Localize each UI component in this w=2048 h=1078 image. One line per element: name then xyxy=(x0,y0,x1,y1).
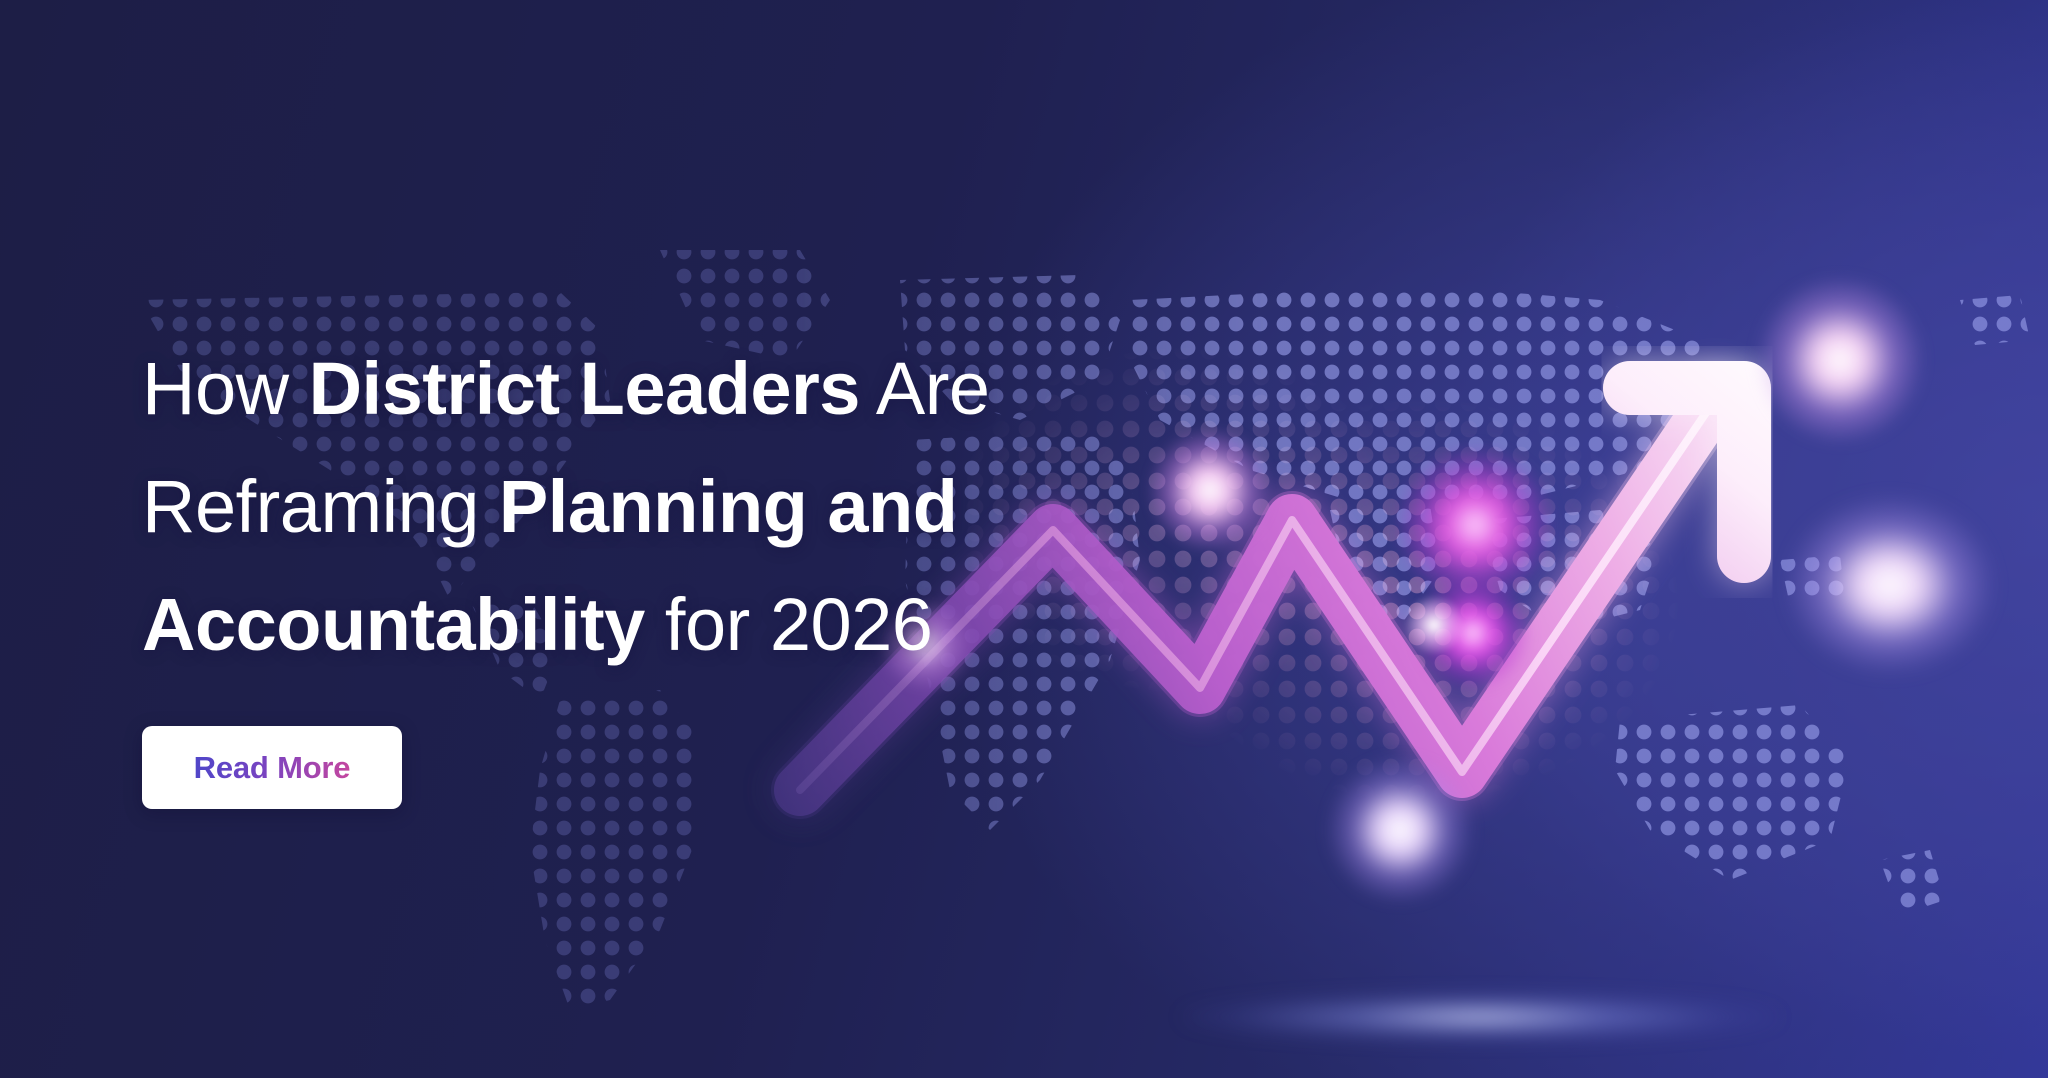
hero-content: How District Leaders Are Reframing Plann… xyxy=(142,330,1142,809)
read-more-button[interactable]: Read More xyxy=(142,726,402,809)
headline-line-2-pre: Reframing xyxy=(142,465,499,548)
headline-line-3-post: for 2026 xyxy=(645,583,933,666)
read-more-label: Read More xyxy=(194,750,351,786)
headline-line-3-bold: Accountability xyxy=(142,583,645,666)
headline-line-2: Reframing Planning and xyxy=(142,448,1142,566)
floor-reflection-glow xyxy=(1180,995,1780,1039)
headline-line-2-bold: Planning and xyxy=(499,465,958,548)
page-title: How District Leaders Are Reframing Plann… xyxy=(142,330,1142,684)
headline-line-1-pre: How xyxy=(142,347,309,430)
headline-line-3: Accountability for 2026 xyxy=(142,566,1142,684)
hero-banner: How District Leaders Are Reframing Plann… xyxy=(0,0,2048,1078)
headline-line-1-bold: District Leaders xyxy=(309,347,860,430)
headline-line-1-post: Are xyxy=(860,347,990,430)
headline-line-1: How District Leaders Are xyxy=(142,330,1142,448)
